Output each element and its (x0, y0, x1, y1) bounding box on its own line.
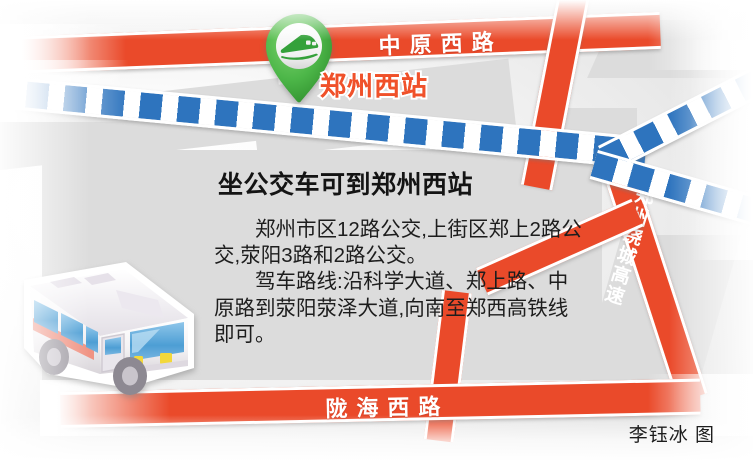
road-label-zhongyuan-west: 中原西路 (378, 24, 503, 61)
rail-fade-right (690, 40, 753, 260)
station-label: 郑州西站 (320, 66, 428, 103)
info-paragraph-drive: 驾车路线:沿科学大道、郑上路、中原路到荥阳荥泽大道,向南至郑西高铁线即可。 (214, 269, 586, 348)
info-paragraph-bus: 郑州市区12路公交,上街区郑上2路公交,荥阳3路和2路公交。 (214, 217, 586, 269)
rail-fade-left (0, 60, 129, 122)
infographic-map: 中原西路 郑州绕城高速 陇海西路 (0, 0, 753, 461)
info-panel: 坐公交车可到郑州西站 郑州市区12路公交,上街区郑上2路公交,荥阳3路和2路公交… (214, 165, 586, 348)
bus-illustration (8, 256, 204, 404)
artist-credit: 李钰冰 图 (629, 420, 715, 447)
road-label-longhai-west: 陇海西路 (325, 389, 450, 424)
info-title: 坐公交车可到郑州西站 (218, 165, 586, 201)
bus-icon (8, 256, 204, 404)
